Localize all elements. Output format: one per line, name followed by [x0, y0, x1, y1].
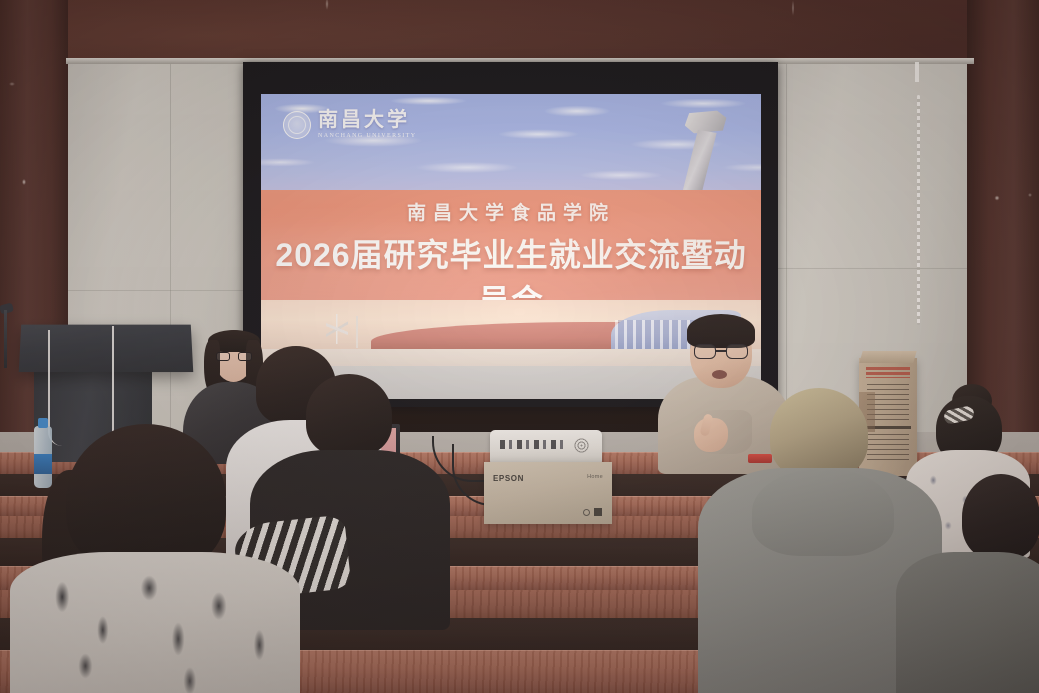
speaker-glasses-icon [694, 344, 748, 359]
carton-icon [594, 508, 602, 516]
projection-screen: 南昌大学 NANCHANG UNIVERSITY 南昌大学食品学院 2026届研… [261, 94, 761, 399]
dark-hair-body [896, 552, 1039, 693]
floral-shirt-body [10, 552, 300, 693]
monument-graphic [675, 107, 725, 200]
slide-subtitle: 南昌大学食品学院 [261, 198, 761, 225]
campus-plaza [261, 349, 761, 366]
logo-chinese-name: 南昌大学 [318, 110, 416, 130]
speaker-mouth [712, 370, 727, 379]
cardboard-carton [859, 358, 917, 476]
lecture-hall-photo: 南昌大学 NANCHANG UNIVERSITY 南昌大学食品学院 2026届研… [0, 0, 1039, 693]
wall-seam [170, 62, 171, 462]
blind-tab[interactable] [915, 62, 919, 82]
campus-sculpture [326, 314, 348, 344]
projector[interactable] [490, 430, 602, 464]
slide-campus-panorama [261, 300, 761, 366]
speaker-hair [687, 314, 755, 348]
logo-english-name: NANCHANG UNIVERSITY [318, 133, 416, 139]
projector-vent-icon [573, 437, 590, 454]
carton-text-lines [867, 434, 909, 460]
blind-pull-chain[interactable] [917, 95, 920, 325]
hood [752, 468, 894, 556]
seated-woman-glasses-icon [216, 352, 252, 361]
university-logo: 南昌大学 NANCHANG UNIVERSITY [283, 110, 416, 139]
projector-carton: EPSON Home [484, 462, 612, 524]
projector-model-label: Home [587, 474, 603, 480]
lectern-top [19, 325, 194, 372]
projector-ports [500, 440, 564, 449]
wall-seam [68, 290, 244, 291]
dark-hair-head [962, 474, 1039, 560]
grey-hoodie-head [770, 388, 868, 480]
red-smartphone[interactable] [748, 454, 772, 463]
lamp-post [356, 316, 358, 348]
wall-seam [762, 268, 967, 269]
slide-title-band: 南昌大学食品学院 2026届研究毕业生就业交流暨动员会 [261, 190, 761, 306]
carton-flap [859, 351, 916, 363]
carton-icon [583, 509, 590, 516]
microphone-stand [4, 310, 7, 368]
carton-header-print [866, 367, 910, 378]
striped-sleeve-head [306, 374, 392, 456]
water-bottle[interactable] [34, 426, 52, 488]
university-seal-icon [283, 111, 311, 139]
projector-brand-label: EPSON [493, 474, 524, 483]
